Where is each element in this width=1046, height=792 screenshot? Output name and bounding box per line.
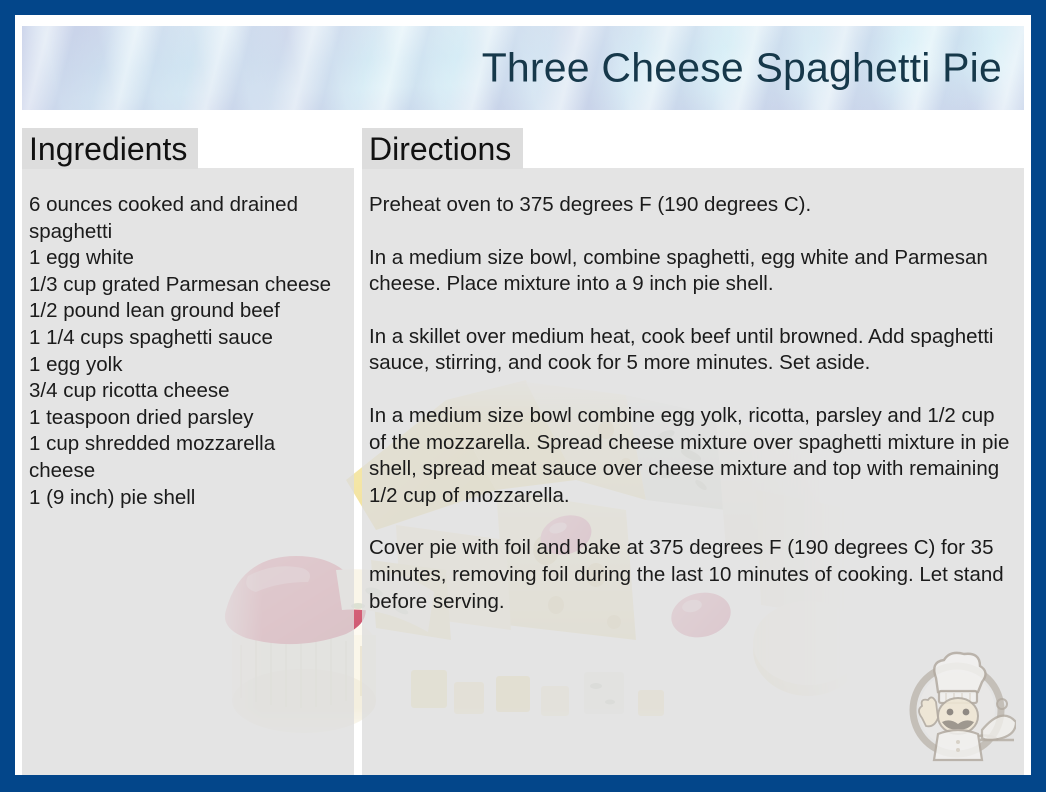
frame-top-border <box>0 0 1046 15</box>
list-item: 1 (9 inch) pie shell <box>29 485 346 512</box>
frame-bottom-border <box>0 775 1046 792</box>
list-item: 1/3 cup grated Parmesan cheese <box>29 272 346 299</box>
frame-left-border <box>0 0 15 792</box>
directions-heading: Directions <box>362 133 511 165</box>
ingredients-heading-tab: Ingredients <box>22 128 198 169</box>
list-item: 1 cup shredded mozzarella cheese <box>29 431 346 484</box>
direction-step: In a medium size bowl, combine spaghetti… <box>369 245 1014 298</box>
direction-step: In a skillet over medium heat, cook beef… <box>369 324 1014 377</box>
direction-step: Cover pie with foil and bake at 375 degr… <box>369 535 1014 615</box>
recipe-card: Ingredients Directions 6 ounces cooked a… <box>0 0 1046 792</box>
title-banner: Three Cheese Spaghetti Pie <box>22 26 1024 110</box>
list-item: 3/4 cup ricotta cheese <box>29 378 346 405</box>
chef-with-cloche-logo <box>898 648 1016 766</box>
list-item: 6 ounces cooked and drained spaghetti <box>29 192 346 245</box>
ingredients-heading: Ingredients <box>22 133 187 165</box>
directions-heading-tab: Directions <box>362 128 523 169</box>
list-item: 1 egg yolk <box>29 352 346 379</box>
list-item: 1 egg white <box>29 245 346 272</box>
directions-steps: Preheat oven to 375 degrees F (190 degre… <box>362 192 1024 615</box>
list-item: 1 1/4 cups spaghetti sauce <box>29 325 346 352</box>
direction-step: Preheat oven to 375 degrees F (190 degre… <box>369 192 1014 219</box>
list-item: 1 teaspoon dried parsley <box>29 405 346 432</box>
direction-step: In a medium size bowl combine egg yolk, … <box>369 403 1014 509</box>
frame-right-border <box>1031 0 1046 792</box>
page-title: Three Cheese Spaghetti Pie <box>482 45 1002 92</box>
ingredients-list: 6 ounces cooked and drained spaghetti 1 … <box>22 192 354 511</box>
list-item: 1/2 pound lean ground beef <box>29 298 346 325</box>
